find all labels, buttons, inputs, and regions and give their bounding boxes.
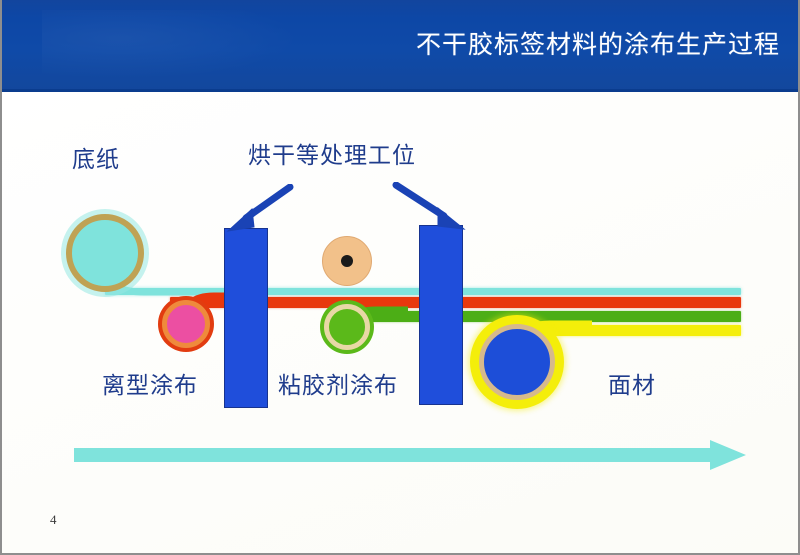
label-backing-paper: 底纸	[72, 146, 120, 174]
title-banner: 不干胶标签材料的涂布生产过程	[2, 0, 800, 92]
banner-sheen	[42, 10, 302, 80]
adhesive-coating-roll	[324, 304, 370, 350]
release-coating-roll	[162, 300, 210, 348]
processing-station-adhesive	[419, 225, 463, 405]
page-number: 4	[50, 512, 57, 528]
drying-station-arrow-right-icon	[390, 182, 468, 232]
drying-station-arrow-left-icon	[224, 184, 296, 234]
label-face-material: 面材	[608, 372, 656, 400]
page-title: 不干胶标签材料的涂布生产过程	[416, 28, 780, 62]
backing-paper-roll	[66, 214, 144, 292]
face-material-roll	[479, 324, 555, 400]
label-release-coating: 离型涂布	[102, 372, 198, 400]
processing-station-release	[224, 228, 268, 408]
idler-roller-hub	[341, 255, 353, 267]
process-flow-arrow-icon	[74, 440, 746, 470]
diagram-canvas: 底纸 烘干等处理工位 离型涂布 粘胶剂涂布 面材	[2, 92, 800, 553]
label-drying-station: 烘干等处理工位	[248, 142, 416, 170]
slide: 不干胶标签材料的涂布生产过程	[0, 0, 800, 555]
label-adhesive-coating: 粘胶剂涂布	[278, 372, 398, 400]
